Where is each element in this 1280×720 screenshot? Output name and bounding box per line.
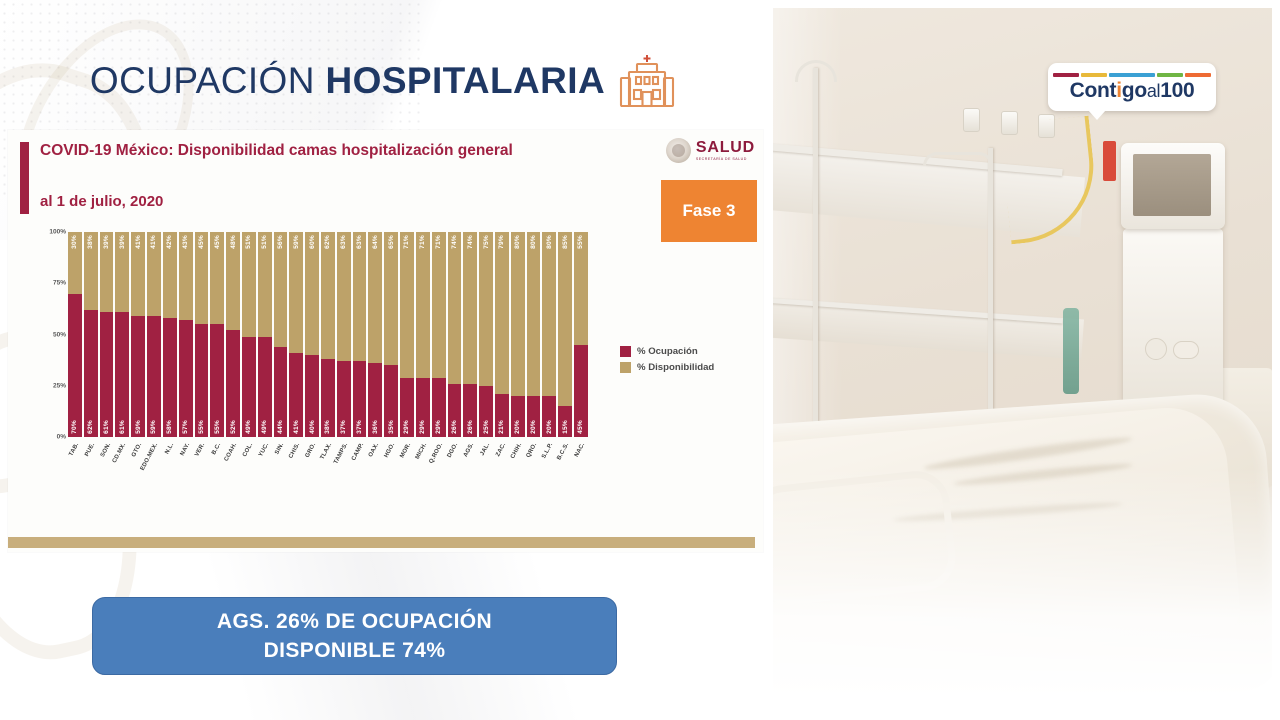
x-axis-tick: N.L.: [163, 440, 177, 496]
chart-card-header: COVID-19 México: Disponibilidad camas ho…: [8, 130, 763, 226]
bar-column[interactable]: 39%61%: [115, 232, 129, 437]
bar-value-label-disponibilidad: 71%: [419, 232, 426, 252]
contigo-color-bar: [1109, 73, 1155, 77]
ags-banner-line-1: AGS. 26% DE OCUPACIÓN: [217, 610, 492, 634]
bar-column[interactable]: 43%57%: [179, 232, 193, 437]
bar-value-label-ocupacion: 37%: [340, 417, 347, 437]
x-axis-tick-label: CD.MX.: [112, 442, 128, 464]
bar-segment-disponibilidad: 71%: [416, 232, 430, 378]
bar-column[interactable]: 56%44%: [274, 232, 288, 437]
bar-value-label-ocupacion: 59%: [150, 417, 157, 437]
bar-segment-ocupacion: 41%: [289, 353, 303, 437]
iv-hook-icon: [923, 152, 993, 166]
bar-segment-disponibilidad: 74%: [448, 232, 462, 384]
bar-value-label-disponibilidad: 56%: [277, 232, 284, 252]
bar-segment-disponibilidad: 41%: [131, 232, 145, 316]
bar-column[interactable]: 71%29%: [432, 232, 446, 437]
x-axis-tick-label: MICH.: [414, 442, 428, 460]
x-axis-tick-label: CAMP.: [351, 442, 365, 462]
bar-chart-plot-area: 30%70%38%62%39%61%39%61%41%59%41%59%42%5…: [68, 232, 588, 437]
bar-value-label-ocupacion: 29%: [435, 417, 442, 437]
bar-value-label-disponibilidad: 59%: [293, 232, 300, 252]
x-axis-tick-label: JAL.: [480, 442, 492, 457]
bar-value-label-ocupacion: 20%: [546, 417, 553, 437]
bar-value-label-ocupacion: 35%: [388, 417, 395, 437]
bar-segment-disponibilidad: 65%: [384, 232, 398, 365]
bar-segment-disponibilidad: 39%: [100, 232, 114, 312]
contigo-wordmark: Contigoal100: [1070, 80, 1195, 101]
bar-value-label-ocupacion: 62%: [87, 417, 94, 437]
bar-value-label-disponibilidad: 75%: [483, 232, 490, 252]
bar-column[interactable]: 51%49%: [242, 232, 256, 437]
bar-column[interactable]: 63%37%: [353, 232, 367, 437]
bar-value-label-ocupacion: 38%: [324, 417, 331, 437]
ags-banner-line-2: DISPONIBLE 74%: [264, 639, 446, 663]
bar-column[interactable]: 80%20%: [542, 232, 556, 437]
x-axis-tick-label: TAB.: [68, 442, 80, 457]
bar-value-label-ocupacion: 44%: [277, 417, 284, 437]
bar-value-label-ocupacion: 15%: [562, 417, 569, 437]
bar-value-label-disponibilidad: 80%: [514, 232, 521, 252]
bar-value-label-ocupacion: 29%: [403, 417, 410, 437]
bar-segment-disponibilidad: 55%: [574, 232, 588, 345]
bar-value-label-ocupacion: 61%: [103, 417, 110, 437]
bar-column[interactable]: 74%26%: [448, 232, 462, 437]
x-axis-tick: VER.: [195, 440, 209, 496]
chart-card: COVID-19 México: Disponibilidad camas ho…: [8, 130, 763, 552]
bar-value-label-ocupacion: 52%: [230, 417, 237, 437]
contigo-color-bars: [1053, 73, 1211, 77]
x-axis-tick: CD.MX.: [115, 440, 129, 496]
title-accent-bar: [20, 142, 29, 214]
x-axis-tick: OAX.: [368, 440, 382, 496]
bar-value-label-disponibilidad: 63%: [340, 232, 347, 252]
bar-segment-ocupacion: 20%: [511, 396, 525, 437]
bar-segment-ocupacion: 21%: [495, 394, 509, 437]
presentation-slide: OCUPACIÓN HOSPITALARIA COVID-19 México: …: [0, 0, 765, 720]
x-axis-tick: NAC.: [574, 440, 588, 496]
x-axis-tick-label: CHIS.: [288, 442, 301, 460]
bar-value-label-disponibilidad: 60%: [309, 232, 316, 252]
x-axis-tick-label: DGO.: [447, 442, 460, 459]
x-axis-tick-label: TLAX.: [319, 442, 333, 461]
gold-divider-strip: [8, 537, 755, 548]
x-axis-tick-label: HGO.: [384, 442, 397, 459]
x-axis-tick-label: SON.: [99, 442, 111, 458]
bar-segment-disponibilidad: 43%: [179, 232, 193, 320]
bar-value-label-disponibilidad: 43%: [182, 232, 189, 252]
bar-value-label-ocupacion: 25%: [483, 417, 490, 437]
x-axis-tick-label: OAX.: [368, 442, 380, 458]
bar-segment-disponibilidad: 48%: [226, 232, 240, 330]
bar-column[interactable]: 74%26%: [463, 232, 477, 437]
x-axis-tick-label: GTO.: [131, 442, 143, 458]
bar-value-label-ocupacion: 20%: [530, 417, 537, 437]
legend-item-disponibilidad: % Disponibilidad: [620, 362, 714, 373]
bar-column[interactable]: 80%20%: [527, 232, 541, 437]
bar-value-label-ocupacion: 26%: [451, 417, 458, 437]
bar-segment-disponibilidad: 79%: [495, 232, 509, 394]
oxygen-tube: [999, 116, 1101, 245]
x-axis-tick-label: Q.ROO.: [428, 442, 444, 465]
bar-segment-disponibilidad: 60%: [305, 232, 319, 355]
contigo-color-bar: [1081, 73, 1107, 77]
legend-swatch-icon: [620, 346, 631, 357]
bar-segment-ocupacion: 25%: [479, 386, 493, 437]
slide-header: OCUPACIÓN HOSPITALARIA: [0, 42, 765, 120]
bar-value-label-disponibilidad: 80%: [546, 232, 553, 252]
legend-label-ocupacion: % Ocupación: [637, 346, 698, 357]
bar-segment-ocupacion: 44%: [274, 347, 288, 437]
x-axis-tick: CAMP.: [353, 440, 367, 496]
bar-value-label-disponibilidad: 41%: [150, 232, 157, 252]
bar-value-label-ocupacion: 37%: [356, 417, 363, 437]
x-axis-tick: COAH.: [226, 440, 240, 496]
bar-column[interactable]: 75%25%: [479, 232, 493, 437]
bar-column[interactable]: 65%35%: [384, 232, 398, 437]
bar-column[interactable]: 30%70%: [68, 232, 82, 437]
hospital-room-photo: Contigoal100: [773, 8, 1272, 698]
y-axis: 0%25%50%75%100%: [26, 226, 66, 443]
bar-column[interactable]: 45%55%: [195, 232, 209, 437]
bar-column[interactable]: 60%40%: [305, 232, 319, 437]
x-axis-tick-label: B.C.S.: [556, 442, 570, 461]
photo-bottom-fade: [773, 468, 1272, 698]
bar-column[interactable]: 62%38%: [321, 232, 335, 437]
bar-segment-ocupacion: 35%: [384, 365, 398, 437]
x-axis-tick: GRO.: [305, 440, 319, 496]
bar-column[interactable]: 41%59%: [131, 232, 145, 437]
x-axis-tick-label: AGS.: [463, 442, 475, 458]
bar-segment-ocupacion: 49%: [258, 337, 272, 437]
x-axis-tick-label: CHIH.: [510, 442, 523, 460]
green-strap: [1063, 308, 1079, 394]
bar-segment-disponibilidad: 38%: [84, 232, 98, 310]
bar-segment-disponibilidad: 51%: [242, 232, 256, 337]
bar-segment-ocupacion: 52%: [226, 330, 240, 437]
bar-value-label-disponibilidad: 62%: [324, 232, 331, 252]
bar-value-label-ocupacion: 21%: [498, 417, 505, 437]
bar-segment-ocupacion: 55%: [210, 324, 224, 437]
bar-segment-disponibilidad: 71%: [400, 232, 414, 378]
bar-segment-ocupacion: 29%: [416, 378, 430, 437]
bar-value-label-disponibilidad: 39%: [103, 232, 110, 252]
bar-value-label-disponibilidad: 41%: [135, 232, 142, 252]
chart-legend: % Ocupación % Disponibilidad: [620, 346, 714, 378]
bar-column[interactable]: 51%49%: [258, 232, 272, 437]
bar-segment-ocupacion: 70%: [68, 294, 82, 438]
bar-value-label-ocupacion: 57%: [182, 417, 189, 437]
chart-plot-wrapper: 0%25%50%75%100% 30%70%38%62%39%61%39%61%…: [8, 226, 763, 516]
bar-segment-ocupacion: 45%: [574, 345, 588, 437]
bar-column[interactable]: 48%52%: [226, 232, 240, 437]
page-title-bold: HOSPITALARIA: [326, 60, 606, 101]
page-title-light: OCUPACIÓN: [90, 60, 326, 101]
x-axis-tick-label: COAH.: [224, 442, 239, 462]
hospital-building-icon: [619, 52, 675, 110]
y-axis-tick: 0%: [57, 434, 66, 441]
contigo-color-bar: [1185, 73, 1211, 77]
x-axis-tick: JAL.: [479, 440, 493, 496]
x-axis-tick-label: MOR.: [399, 442, 412, 459]
bar-column[interactable]: 71%29%: [416, 232, 430, 437]
bar-value-label-ocupacion: 41%: [293, 417, 300, 437]
bar-segment-ocupacion: 57%: [179, 320, 193, 437]
bar-value-label-disponibilidad: 65%: [388, 232, 395, 252]
y-axis-tick: 100%: [49, 229, 66, 236]
bar-value-label-ocupacion: 26%: [467, 417, 474, 437]
bar-column[interactable]: 64%36%: [368, 232, 382, 437]
bar-segment-ocupacion: 15%: [558, 406, 572, 437]
x-axis-tick: Q.ROO.: [432, 440, 446, 496]
salud-logo: SALUD SECRETARÍA DE SALUD: [666, 138, 755, 163]
bar-column[interactable]: 59%41%: [289, 232, 303, 437]
bar-segment-disponibilidad: 85%: [558, 232, 572, 406]
chart-subtitle: al 1 de julio, 2020: [40, 193, 163, 210]
bar-value-label-disponibilidad: 42%: [166, 232, 173, 252]
bar-segment-disponibilidad: 42%: [163, 232, 177, 318]
x-axis-tick: COL.: [242, 440, 256, 496]
bar-value-label-ocupacion: 58%: [166, 417, 173, 437]
bar-value-label-disponibilidad: 39%: [119, 232, 126, 252]
x-axis-tick-label: NAY.: [179, 442, 191, 457]
bar-value-label-ocupacion: 45%: [577, 417, 584, 437]
bar-segment-disponibilidad: 30%: [68, 232, 82, 294]
bar-segment-ocupacion: 29%: [432, 378, 446, 437]
bar-value-label-disponibilidad: 45%: [214, 232, 221, 252]
bar-segment-disponibilidad: 75%: [479, 232, 493, 386]
bar-segment-ocupacion: 58%: [163, 318, 177, 437]
salud-subtitle: SECRETARÍA DE SALUD: [696, 158, 755, 162]
bar-segment-disponibilidad: 51%: [258, 232, 272, 337]
bar-segment-disponibilidad: 63%: [337, 232, 351, 361]
photo-panel: Contigoal100: [765, 0, 1280, 720]
bar-segment-ocupacion: 40%: [305, 355, 319, 437]
x-axis-tick: HGO.: [384, 440, 398, 496]
x-axis-tick: TLAX.: [321, 440, 335, 496]
bar-column[interactable]: 55%45%: [574, 232, 588, 437]
bar-value-label-disponibilidad: 30%: [71, 232, 78, 252]
bar-value-label-ocupacion: 59%: [135, 417, 142, 437]
bar-value-label-disponibilidad: 74%: [451, 232, 458, 252]
bar-segment-disponibilidad: 41%: [147, 232, 161, 316]
bar-value-label-disponibilidad: 71%: [435, 232, 442, 252]
bar-value-label-ocupacion: 70%: [71, 417, 78, 437]
bar-value-label-disponibilidad: 45%: [198, 232, 205, 252]
x-axis-tick-label: QRO.: [526, 442, 539, 459]
bar-segment-disponibilidad: 80%: [542, 232, 556, 396]
contigo-al: al: [1147, 81, 1160, 101]
bar-column[interactable]: 39%61%: [100, 232, 114, 437]
legend-swatch-icon: [620, 362, 631, 373]
x-axis-tick: QRO.: [527, 440, 541, 496]
bar-segment-ocupacion: 37%: [337, 361, 351, 437]
bar-value-label-disponibilidad: 55%: [577, 232, 584, 252]
bar-value-label-ocupacion: 55%: [214, 417, 221, 437]
contigo-color-bar: [1053, 73, 1079, 77]
x-axis-tick: SIN.: [274, 440, 288, 496]
ags-summary-banner: AGS. 26% DE OCUPACIÓN DISPONIBLE 74%: [92, 597, 617, 675]
bar-segment-ocupacion: 36%: [368, 363, 382, 437]
bar-segment-ocupacion: 29%: [400, 378, 414, 437]
bar-value-label-ocupacion: 20%: [514, 417, 521, 437]
x-axis-tick: MICH.: [416, 440, 430, 496]
bar-value-label-disponibilidad: 38%: [87, 232, 94, 252]
bar-segment-ocupacion: 55%: [195, 324, 209, 437]
x-axis-tick: ZAC.: [495, 440, 509, 496]
x-axis-tick: YUC.: [258, 440, 272, 496]
x-axis-tick-label: SIN.: [275, 442, 286, 456]
bar-column[interactable]: 63%37%: [337, 232, 351, 437]
x-axis-tick: DGO.: [448, 440, 462, 496]
bar-segment-ocupacion: 20%: [542, 396, 556, 437]
x-axis-tick: B.C.: [210, 440, 224, 496]
bar-segment-ocupacion: 38%: [321, 359, 335, 437]
bar-value-label-disponibilidad: 64%: [372, 232, 379, 252]
page-title: OCUPACIÓN HOSPITALARIA: [90, 60, 605, 102]
bar-segment-disponibilidad: 71%: [432, 232, 446, 378]
x-axis-tick-label: VER.: [195, 442, 207, 458]
bar-column[interactable]: 38%62%: [84, 232, 98, 437]
ventilator-knob: [1145, 338, 1167, 360]
y-axis-tick: 50%: [53, 331, 66, 338]
emergency-switch: [1103, 141, 1116, 181]
x-axis-tick: PUE.: [84, 440, 98, 496]
x-axis-tick-label: YUC.: [258, 442, 270, 458]
bar-segment-ocupacion: 37%: [353, 361, 367, 437]
x-axis-tick-label: ZAC.: [495, 442, 507, 458]
bar-segment-disponibilidad: 64%: [368, 232, 382, 363]
bar-value-label-disponibilidad: 74%: [467, 232, 474, 252]
x-axis-tick: CHIS.: [289, 440, 303, 496]
chart-title: COVID-19 México: Disponibilidad camas ho…: [40, 141, 600, 161]
bar-segment-ocupacion: 20%: [527, 396, 541, 437]
monitor-screen: [1133, 154, 1211, 216]
bar-column[interactable]: 41%59%: [147, 232, 161, 437]
bar-value-label-ocupacion: 36%: [372, 417, 379, 437]
contigo-brand: Contigo: [1070, 79, 1147, 102]
bar-segment-ocupacion: 59%: [131, 316, 145, 437]
iv-hook-icon: [795, 60, 837, 82]
ventilator-port: [1173, 341, 1199, 359]
x-axis-tick-label: GRO.: [305, 442, 318, 459]
bar-segment-ocupacion: 26%: [463, 384, 477, 437]
x-axis-tick: CHIH.: [511, 440, 525, 496]
bar-value-label-ocupacion: 49%: [245, 417, 252, 437]
bar-column[interactable]: 85%15%: [558, 232, 572, 437]
legend-label-disponibilidad: % Disponibilidad: [637, 362, 714, 373]
bar-segment-disponibilidad: 74%: [463, 232, 477, 384]
bar-segment-ocupacion: 61%: [100, 312, 114, 437]
x-axis-tick: B.C.S.: [558, 440, 572, 496]
x-axis-tick: S.L.P.: [542, 440, 556, 496]
wall-gas-outlet: [963, 108, 980, 132]
bar-column[interactable]: 45%55%: [210, 232, 224, 437]
bar-column[interactable]: 42%58%: [163, 232, 177, 437]
legend-item-ocupacion: % Ocupación: [620, 346, 714, 357]
bar-value-label-disponibilidad: 80%: [530, 232, 537, 252]
mexican-eagle-seal-icon: [666, 138, 691, 163]
x-axis-tick: TAMPS.: [337, 440, 351, 496]
bar-segment-ocupacion: 59%: [147, 316, 161, 437]
bar-segment-disponibilidad: 45%: [195, 232, 209, 324]
bar-value-label-disponibilidad: 85%: [562, 232, 569, 252]
x-axis-labels: TAB.PUE.SON.CD.MX.GTO.EDO.MEX.N.L.NAY.VE…: [68, 440, 588, 496]
bar-segment-disponibilidad: 39%: [115, 232, 129, 312]
bar-segment-disponibilidad: 80%: [527, 232, 541, 396]
bar-segment-disponibilidad: 63%: [353, 232, 367, 361]
bar-value-label-ocupacion: 61%: [119, 417, 126, 437]
bar-segment-ocupacion: 26%: [448, 384, 462, 437]
x-axis-tick-label: NAC.: [574, 442, 586, 458]
bar-segment-disponibilidad: 80%: [511, 232, 525, 396]
y-axis-tick: 25%: [53, 382, 66, 389]
bar-value-label-disponibilidad: 48%: [230, 232, 237, 252]
bar-value-label-disponibilidad: 79%: [498, 232, 505, 252]
bar-value-label-ocupacion: 55%: [198, 417, 205, 437]
x-axis-tick: TAB.: [68, 440, 82, 496]
x-axis-tick: EDO.MEX.: [147, 440, 161, 496]
bar-segment-disponibilidad: 56%: [274, 232, 288, 347]
bar-segment-ocupacion: 49%: [242, 337, 256, 437]
salud-name: SALUD: [696, 140, 755, 156]
y-axis-tick: 75%: [53, 280, 66, 287]
x-axis-tick: SON.: [100, 440, 114, 496]
x-axis-tick: MOR.: [400, 440, 414, 496]
bar-segment-disponibilidad: 59%: [289, 232, 303, 353]
x-axis-tick-label: S.L.P.: [541, 442, 554, 460]
contigo-al-100-logo: Contigoal100: [1048, 63, 1216, 111]
bar-value-label-disponibilidad: 51%: [261, 232, 268, 252]
x-axis-tick: NAY.: [179, 440, 193, 496]
bar-column[interactable]: 79%21%: [495, 232, 509, 437]
x-axis-tick-label: COL.: [242, 442, 254, 458]
bar-column[interactable]: 80%20%: [511, 232, 525, 437]
bar-segment-disponibilidad: 62%: [321, 232, 335, 359]
bar-value-label-disponibilidad: 63%: [356, 232, 363, 252]
salud-wordmark: SALUD SECRETARÍA DE SALUD: [696, 140, 755, 162]
x-axis-tick-label: TAMPS.: [333, 442, 349, 465]
bar-value-label-ocupacion: 49%: [261, 417, 268, 437]
contigo-color-bar: [1157, 73, 1183, 77]
x-axis-tick: AGS.: [463, 440, 477, 496]
bar-segment-ocupacion: 62%: [84, 310, 98, 437]
bar-value-label-ocupacion: 29%: [419, 417, 426, 437]
bar-value-label-disponibilidad: 51%: [245, 232, 252, 252]
x-axis-tick-label: B.C.: [211, 442, 222, 456]
bar-segment-disponibilidad: 45%: [210, 232, 224, 324]
bar-value-label-disponibilidad: 71%: [403, 232, 410, 252]
bar-segment-ocupacion: 61%: [115, 312, 129, 437]
x-axis-tick-label: PUE.: [84, 442, 96, 458]
bar-value-label-ocupacion: 40%: [309, 417, 316, 437]
contigo-100: 100: [1160, 79, 1194, 102]
x-axis-tick-label: N.L.: [164, 442, 175, 455]
bar-column[interactable]: 71%29%: [400, 232, 414, 437]
